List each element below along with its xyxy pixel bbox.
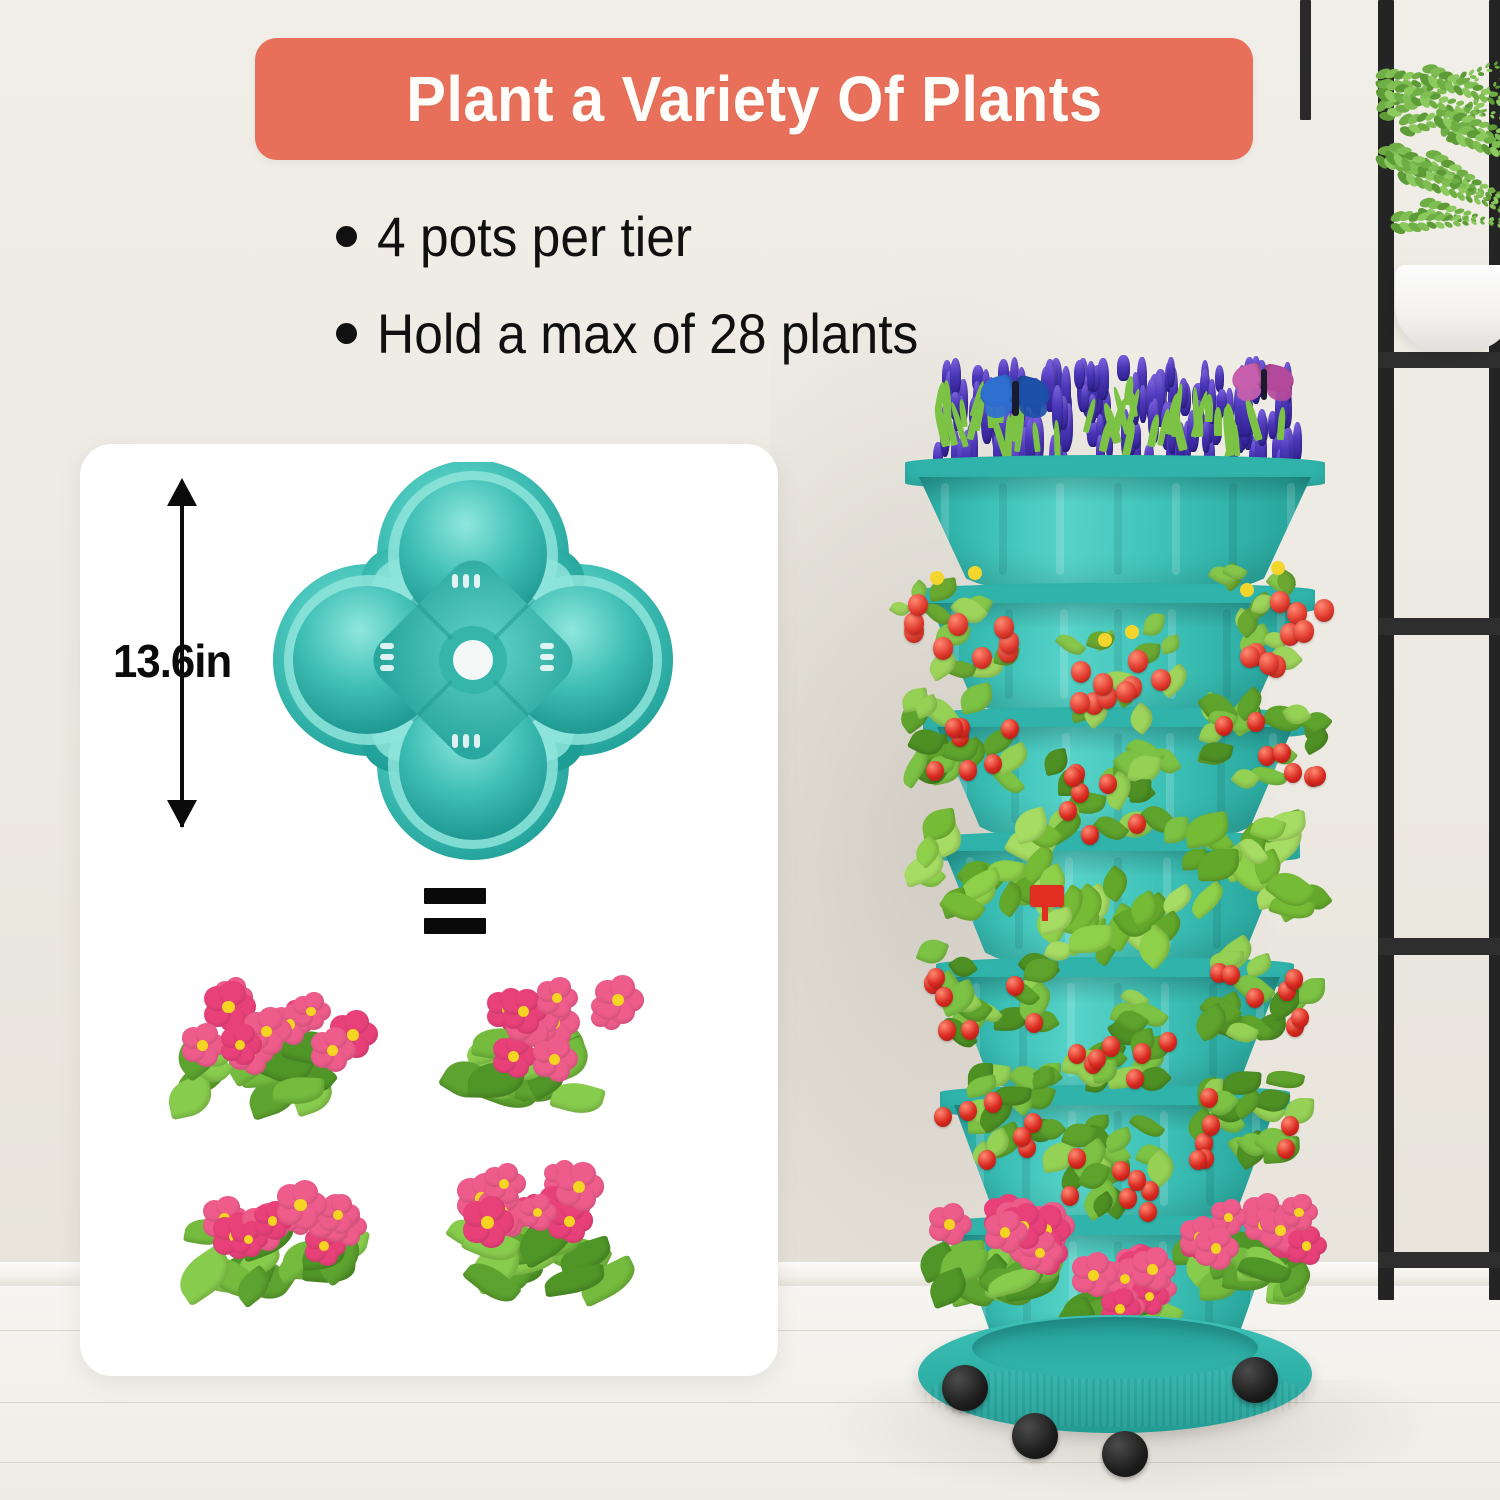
flower (277, 1181, 325, 1229)
fruit (1093, 673, 1113, 696)
tier-top-view-illustration (258, 462, 688, 862)
leaf (1214, 407, 1222, 436)
list-item: 4 pots per tier (336, 208, 1156, 265)
flower (930, 571, 944, 585)
flower-center (294, 1199, 306, 1211)
fruit (959, 760, 977, 780)
flower (968, 566, 982, 580)
wing (1237, 383, 1261, 401)
flower-center (573, 1181, 585, 1193)
fruit (948, 613, 968, 636)
fruit (1246, 988, 1264, 1008)
fruit (1200, 1088, 1218, 1108)
list-item (440, 1160, 640, 1295)
fruit (1013, 1127, 1031, 1147)
leaf (1160, 634, 1182, 655)
shelf-bar (1378, 618, 1500, 635)
flower-center (1294, 1208, 1303, 1217)
bullet-dot-icon (336, 323, 357, 344)
body (1012, 381, 1019, 416)
top-tier-flowers (932, 355, 1304, 467)
fruit (1247, 712, 1265, 732)
fruit (1133, 1043, 1151, 1063)
fruit (1159, 1032, 1177, 1052)
flower-spike (1215, 365, 1224, 392)
leaf (1125, 702, 1159, 736)
flower (1195, 1228, 1236, 1269)
fruit (1071, 661, 1091, 684)
planter-tower (880, 355, 1350, 1475)
plant-cluster (1197, 561, 1347, 679)
equals-icon-bar-top (424, 888, 486, 904)
list-item (168, 975, 368, 1110)
fruit (938, 1020, 956, 1040)
flower-center (306, 1007, 315, 1016)
plant-capacity-grid (168, 975, 668, 1295)
fruit (1001, 719, 1019, 739)
leaf (958, 682, 996, 716)
flower-spike (1167, 357, 1174, 387)
fruit (926, 761, 944, 781)
fruit (1284, 763, 1302, 783)
leaf (1266, 1067, 1306, 1091)
flower-spike (1087, 361, 1095, 391)
flower-center (564, 1216, 575, 1227)
fruit (1294, 620, 1314, 643)
fruit (1202, 1115, 1220, 1135)
flower-spike (1202, 421, 1209, 453)
plant-cluster (1170, 1191, 1320, 1299)
plant-cluster (1172, 1061, 1322, 1167)
flower-center (508, 1051, 519, 1062)
leaf (1103, 1126, 1135, 1154)
flower (463, 1198, 512, 1247)
fruit (1291, 1008, 1309, 1028)
fruit (1099, 774, 1117, 794)
fruit (994, 616, 1014, 639)
fruit (1068, 1148, 1086, 1168)
flower (985, 1212, 1025, 1252)
fruit (961, 1020, 979, 1040)
flower-center (481, 1216, 494, 1229)
plant-tag-marker (1030, 885, 1064, 907)
fruit (1139, 1202, 1157, 1222)
flower (1282, 1195, 1317, 1230)
fruit (1128, 1170, 1146, 1190)
shelf-bar (1378, 352, 1500, 368)
list-item (168, 1160, 368, 1295)
leaf (1142, 612, 1165, 638)
plant-cluster (895, 685, 1045, 791)
leaf (165, 1075, 215, 1120)
fruit (1259, 652, 1279, 675)
flower-center (1224, 1213, 1233, 1222)
bullet-dot-icon (336, 226, 357, 247)
fruit (984, 754, 1002, 774)
flower (1288, 1228, 1325, 1265)
fern-plant (1280, 20, 1500, 320)
fruit (1281, 1116, 1299, 1136)
list-item: Hold a max of 28 plants (336, 305, 1156, 362)
base-inner-well (972, 1317, 1258, 1379)
wing (1267, 383, 1292, 401)
plant-cluster (1040, 737, 1190, 843)
flower (533, 1038, 576, 1081)
fruit (1119, 1188, 1137, 1208)
flower (311, 1029, 353, 1071)
fruit (1128, 650, 1148, 673)
caster-wheel (1012, 1413, 1058, 1459)
plant-cluster (1174, 935, 1326, 1043)
caster-wheel (1232, 1357, 1278, 1403)
caster-wheel (942, 1365, 988, 1411)
page-title: Plant a Variety Of Plants (406, 62, 1102, 136)
flower-center (197, 1040, 208, 1051)
shelf-bar (1378, 938, 1500, 955)
flower-center (1115, 1304, 1125, 1314)
flower (1240, 583, 1254, 597)
header-banner: Plant a Variety Of Plants (255, 38, 1253, 160)
fruit (1064, 767, 1082, 787)
flower (556, 1164, 602, 1210)
fruit (1285, 969, 1303, 989)
butterfly-decoration (980, 377, 1053, 423)
caster-wheel (1102, 1431, 1148, 1477)
flower-center (1147, 1264, 1158, 1275)
plant-cluster (887, 561, 1037, 679)
flower (1072, 1254, 1115, 1297)
fruit (1240, 646, 1260, 669)
leaf (1129, 1110, 1166, 1143)
plant-cluster (1189, 685, 1339, 791)
fruit (1116, 681, 1136, 704)
flower-center (327, 1045, 338, 1056)
leaf (1054, 630, 1086, 660)
flower-spike (950, 358, 962, 396)
bullet-label: 4 pots per tier (377, 208, 692, 265)
tier-shading (919, 477, 1311, 503)
flower-center (244, 1235, 253, 1244)
flower (221, 1025, 260, 1064)
four-lobe-tier-icon (258, 462, 688, 862)
plant-cluster (1040, 613, 1190, 731)
fruit (1308, 766, 1326, 786)
flower-center (518, 1006, 529, 1017)
flower (1132, 1248, 1174, 1290)
leaf (1194, 408, 1203, 437)
flower-center (1000, 1227, 1010, 1237)
fruit (1081, 825, 1099, 845)
fruit (1314, 599, 1334, 622)
flower-center (1302, 1241, 1312, 1251)
fruit (984, 1092, 1002, 1112)
plant-cluster (908, 935, 1060, 1043)
bullet-label: Hold a max of 28 plants (377, 305, 918, 362)
wing (985, 397, 1012, 417)
fruit (1006, 976, 1024, 996)
dimension-arrow-down-icon (167, 800, 197, 828)
fruit (945, 718, 963, 738)
flower-center (1088, 1270, 1099, 1281)
flower-spike (1293, 422, 1302, 462)
fruit (1215, 716, 1233, 736)
butterfly-decoration (1232, 365, 1297, 406)
flower (537, 979, 576, 1018)
flower-center (268, 1216, 278, 1226)
equals-icon-bar-bottom (424, 918, 486, 934)
fruit (934, 1107, 952, 1127)
flower (595, 977, 641, 1023)
flower (929, 1205, 969, 1245)
flower (520, 1195, 555, 1230)
dimension-label: 13.6in (113, 634, 231, 688)
flower (1125, 625, 1139, 639)
list-item (440, 975, 640, 1110)
fruit (1277, 1139, 1295, 1159)
fern-frond (1389, 219, 1500, 229)
flower (182, 1025, 223, 1066)
wing (1019, 397, 1047, 417)
plant-cluster (1172, 809, 1332, 921)
leaf (915, 935, 948, 967)
flower (293, 994, 329, 1030)
shelf-bar (1378, 1252, 1500, 1268)
flower-center (944, 1219, 954, 1229)
body (1261, 369, 1267, 400)
fruit (904, 612, 924, 635)
